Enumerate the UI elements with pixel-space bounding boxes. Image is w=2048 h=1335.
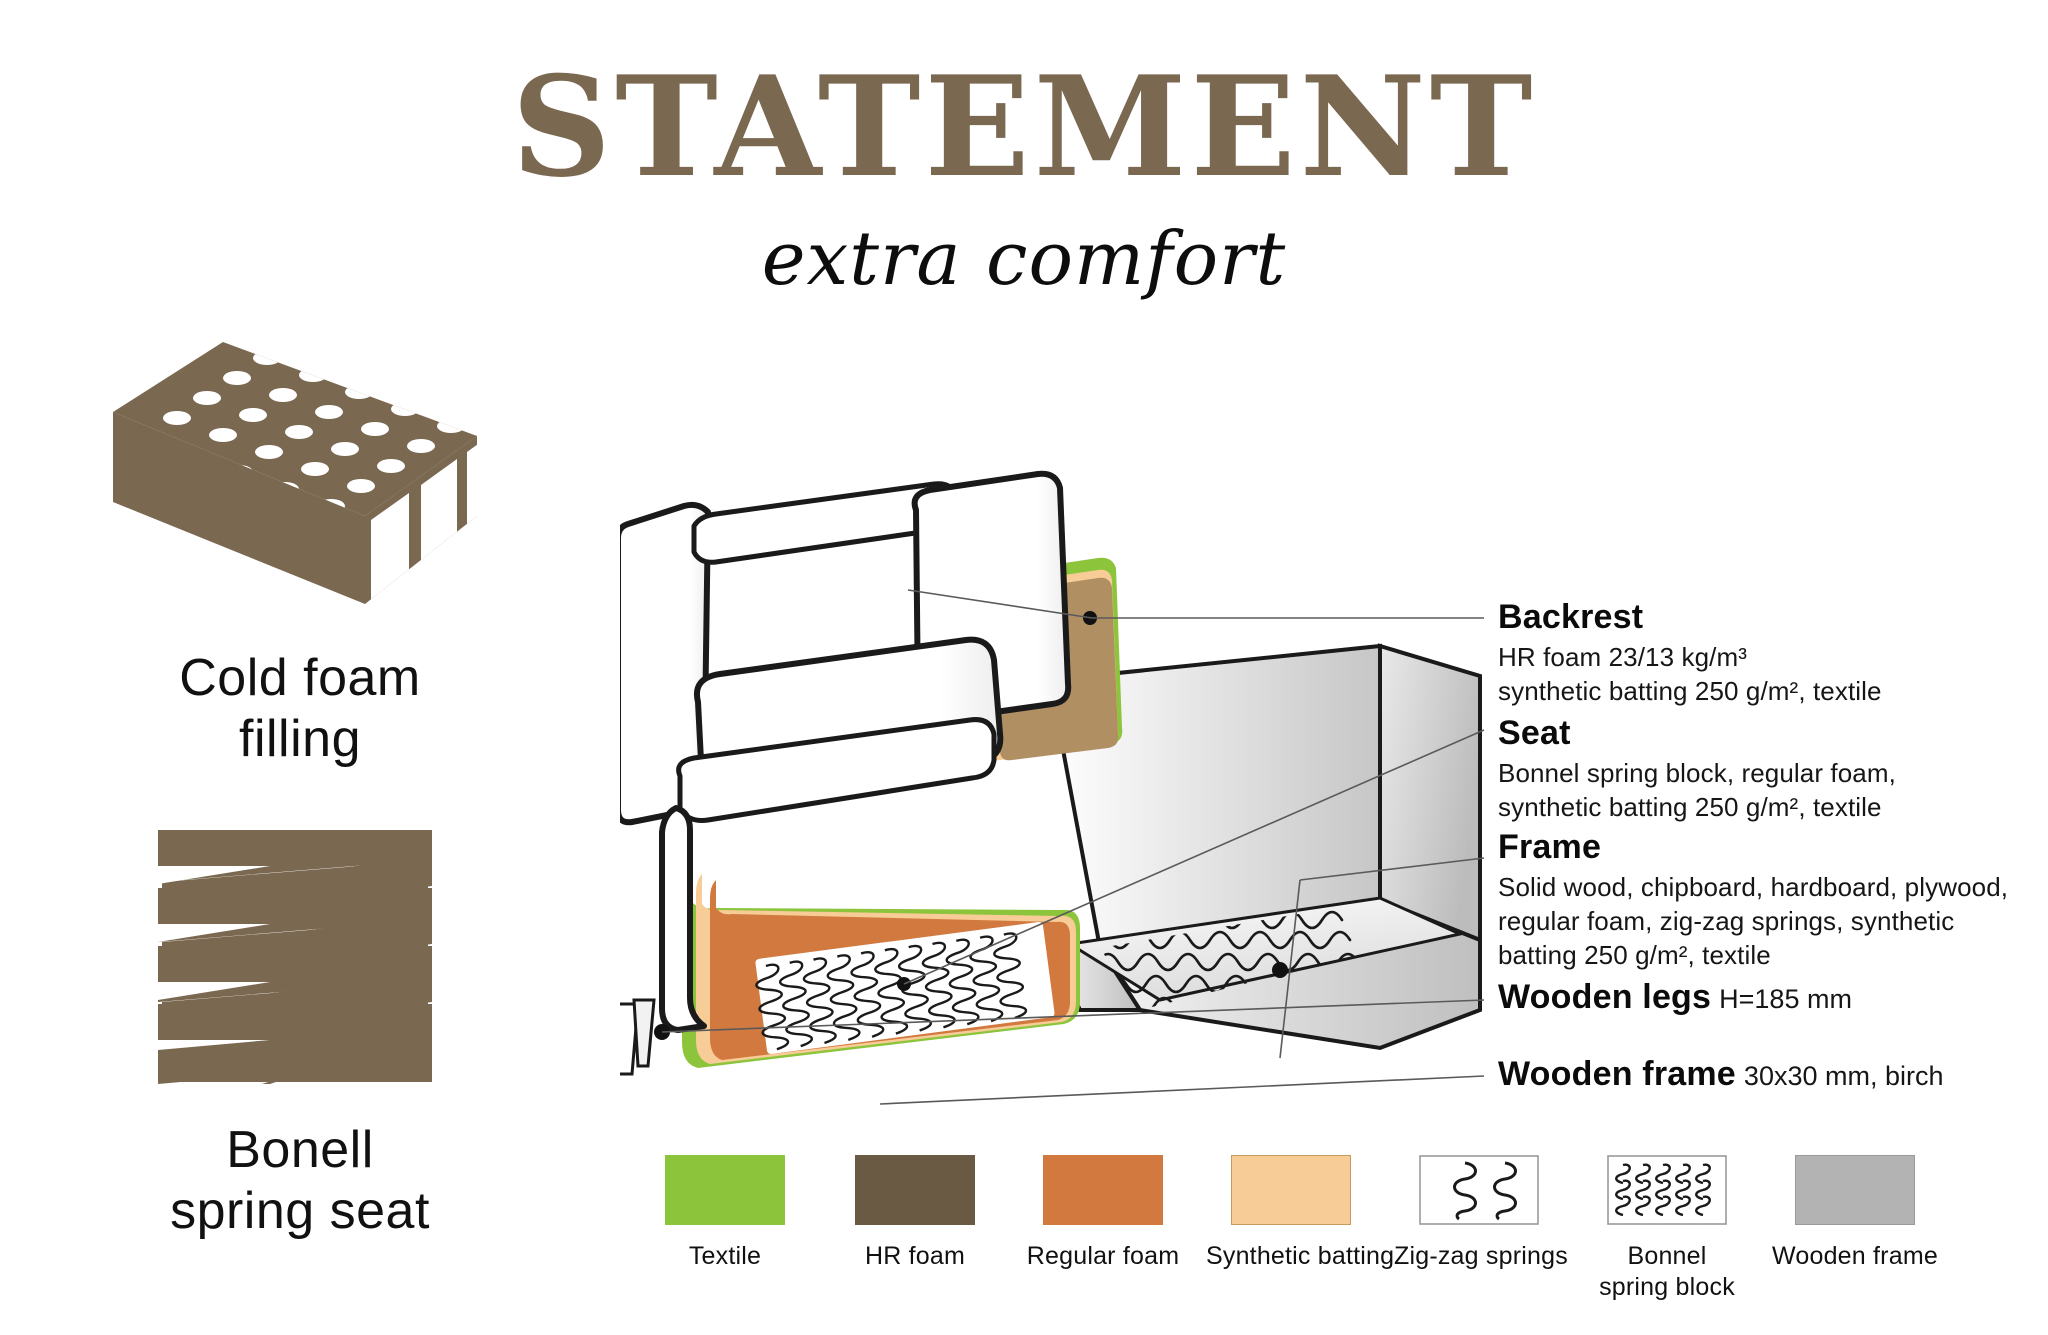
callout-seat: Seat Bonnel spring block, regular foam, … xyxy=(1498,714,2048,825)
legend-item-textile: Textile xyxy=(640,1155,810,1272)
legend-swatch-3 xyxy=(1231,1155,1351,1225)
legend-swatch-1 xyxy=(855,1155,975,1225)
legend-label-2: Regular foam xyxy=(1018,1241,1188,1272)
legend-swatch-2 xyxy=(1043,1155,1163,1225)
callout-backrest-title: Backrest xyxy=(1498,598,2048,637)
sofa-cutaway-illustration xyxy=(620,470,1500,1110)
callout-backrest-body: HR foam 23/13 kg/m³ synthetic batting 25… xyxy=(1498,641,2048,709)
legend-label-5: Bonnelspring block xyxy=(1582,1241,1752,1302)
callout-wooden-legs-title: Wooden legs xyxy=(1498,978,1711,1016)
page-subtitle: extra comfort xyxy=(0,222,2048,296)
legend-label-6: Wooden frame xyxy=(1770,1241,1940,1272)
legend-item-zig-zag-springs: Zig-zag springs xyxy=(1394,1155,1564,1272)
cold-foam-block-illustration xyxy=(95,320,495,620)
legend-swatch-4 xyxy=(1419,1155,1539,1225)
legend-label-5-line2: spring block xyxy=(1582,1272,1752,1303)
page-title: STATEMENT xyxy=(0,58,2048,196)
dot-seat xyxy=(897,977,911,991)
legend-item-regular-foam: Regular foam xyxy=(1018,1155,1188,1272)
legend-item-hr-foam: HR foam xyxy=(830,1155,1000,1272)
infographic-canvas: STATEMENT extra comfort xyxy=(0,0,2048,1335)
legend-label-0: Textile xyxy=(640,1241,810,1272)
callout-wooden-legs-value: H=185 mm xyxy=(1719,984,1852,1014)
callout-frame-body: Solid wood, chipboard, hardboard, plywoo… xyxy=(1498,871,2048,972)
cold-foam-caption-line1: Cold foam xyxy=(40,648,560,709)
callout-frame-line3: batting 250 g/m², textile xyxy=(1498,939,2048,973)
callout-frame-line2: regular foam, zig-zag springs, synthetic xyxy=(1498,905,2048,939)
legend-swatch-6 xyxy=(1795,1155,1915,1225)
callout-frame-line1: Solid wood, chipboard, hardboard, plywoo… xyxy=(1498,871,2048,905)
legend-item-wooden-frame: Wooden frame xyxy=(1770,1155,1940,1272)
bonell-caption: Bonell spring seat xyxy=(40,1120,560,1242)
legend-label-4: Zig-zag springs xyxy=(1394,1241,1564,1272)
callout-wooden-frame: Wooden frame30x30 mm, birch xyxy=(1498,1055,2048,1094)
callout-frame-title: Frame xyxy=(1498,828,2048,867)
callout-wooden-frame-value: 30x30 mm, birch xyxy=(1744,1061,1944,1091)
callout-frame: Frame Solid wood, chipboard, hardboard, … xyxy=(1498,828,2048,972)
callout-seat-body: Bonnel spring block, regular foam, synth… xyxy=(1498,757,2048,825)
callout-seat-line1: Bonnel spring block, regular foam, xyxy=(1498,757,2048,791)
legend-swatch-0 xyxy=(665,1155,785,1225)
legend-label-3: Synthetic batting xyxy=(1206,1241,1376,1272)
dot-backrest xyxy=(1083,611,1097,625)
zig-zag-spring-illustration xyxy=(150,826,440,1086)
callout-wooden-legs: Wooden legsH=185 mm xyxy=(1498,978,2048,1017)
legend-label-1: HR foam xyxy=(830,1241,1000,1272)
callout-seat-title: Seat xyxy=(1498,714,2048,753)
dot-frame xyxy=(1272,962,1288,978)
materials-legend: TextileHR foamRegular foamSynthetic batt… xyxy=(640,1155,2000,1325)
callout-backrest-line2: synthetic batting 250 g/m², textile xyxy=(1498,675,2048,709)
bonell-caption-line2: spring seat xyxy=(40,1181,560,1242)
cold-foam-caption-line2: filling xyxy=(40,709,560,770)
cold-foam-caption: Cold foam filling xyxy=(40,648,560,770)
frame-right-panel xyxy=(1380,646,1480,940)
callout-backrest-line1: HR foam 23/13 kg/m³ xyxy=(1498,641,2048,675)
legend-item-synthetic-batting: Synthetic batting xyxy=(1206,1155,1376,1272)
bonell-caption-line1: Bonell xyxy=(40,1120,560,1181)
wooden-leg-group xyxy=(620,1000,654,1074)
callout-wooden-frame-title: Wooden frame xyxy=(1498,1055,1736,1093)
legend-item-bonnel: Bonnelspring block xyxy=(1582,1155,1752,1302)
callout-seat-line2: synthetic batting 250 g/m², textile xyxy=(1498,791,2048,825)
callout-backrest: Backrest HR foam 23/13 kg/m³ synthetic b… xyxy=(1498,598,2048,709)
legend-swatch-5 xyxy=(1607,1155,1727,1225)
dot-wooden-legs xyxy=(654,1024,670,1040)
